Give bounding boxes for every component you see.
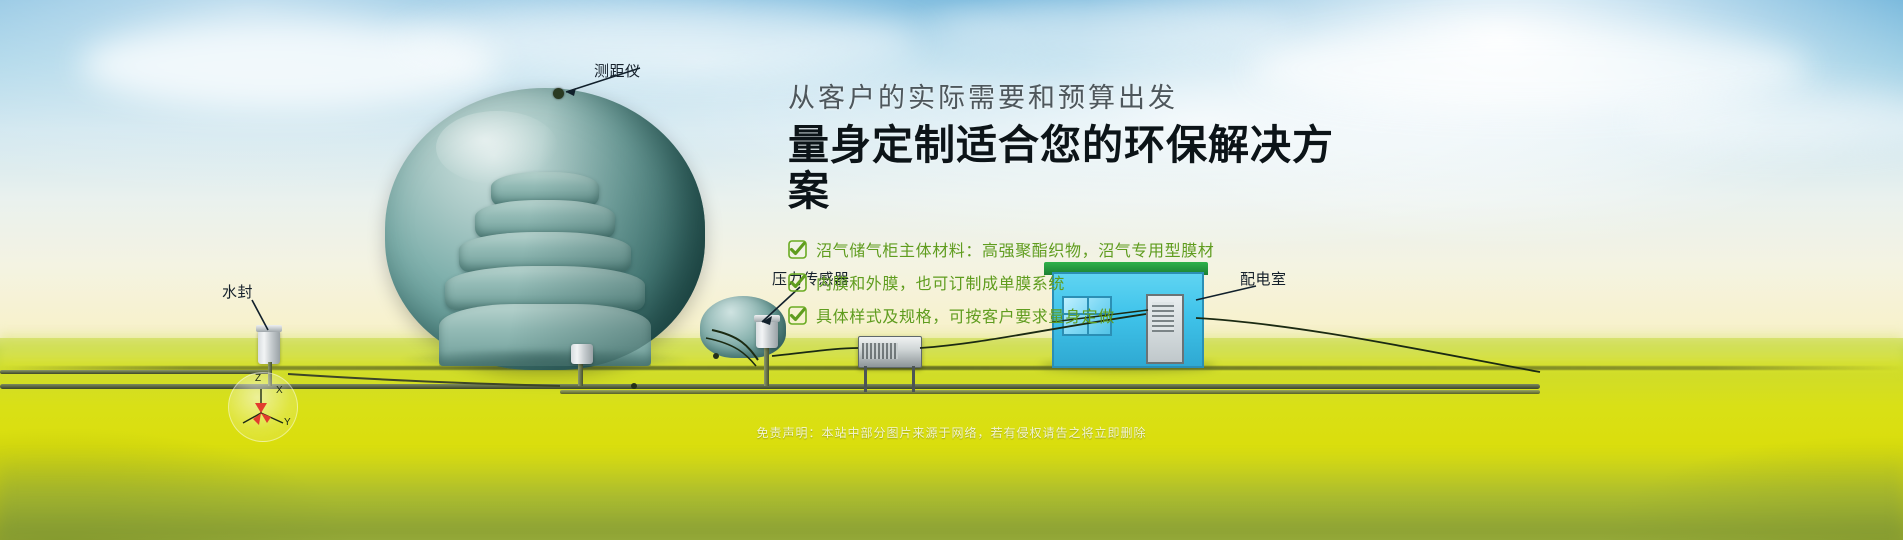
axis-label-x: X [276,385,283,396]
biogas-dome [385,88,705,370]
cloud [930,0,1290,56]
axis-label-z: Z [255,373,261,384]
rangefinder-device-icon [553,88,564,99]
banner-stage: 测距仪 水封 压力传感器 配电室 Z X Y 从客户的实际需要和预算出发 量身定… [0,0,1903,540]
list-item: 内膜和外膜，也可订制成单膜系统 [788,268,1348,296]
ground-foreground-blur [0,455,1903,540]
banner-headline: 量身定制适合您的环保解决方案 [788,123,1348,215]
list-item: 具体样式及规格，可按客户要求量身定做 [788,301,1348,329]
label-rangefinder: 测距仪 [594,60,641,81]
check-badge-icon [788,273,807,292]
label-water-seal: 水封 [222,281,253,302]
list-item-label: 沼气储气柜主体材料：高强聚酯织物，沼气专用型膜材 [816,237,1214,261]
water-seal-valve [258,330,280,364]
list-item-label: 具体样式及规格，可按客户要求量身定做 [816,303,1115,327]
dome-inner-membrane [439,166,651,366]
dome-base-shadow [401,350,689,372]
skid-leg [912,366,915,392]
valve-cap [256,325,282,332]
disclaimer-text: 免责声明：本站中部分图片来源于网络，若有侵权请告之将立即删除 [0,424,1903,441]
inline-valve [571,344,593,364]
check-badge-icon [788,306,807,325]
check-badge-icon [788,240,807,259]
banner-subtitle: 从客户的实际需要和预算出发 [788,82,1348,114]
list-item-label: 内膜和外膜，也可订制成单膜系统 [816,270,1065,294]
list-item: 沼气储气柜主体材料：高强聚酯织物，沼气专用型膜材 [788,235,1348,263]
blower-grill [862,343,898,359]
valve-cap [754,315,780,322]
feature-list: 沼气储气柜主体材料：高强聚酯织物，沼气专用型膜材 内膜和外膜，也可订制成单膜系统 [788,235,1348,329]
skid-leg [864,366,867,392]
marketing-copy: 从客户的实际需要和预算出发 量身定制适合您的环保解决方案 沼气储气柜主体材料：高… [788,82,1348,334]
cloud [400,6,920,76]
pipe-secondary [560,390,1540,394]
pressure-sensor-valve [756,320,778,348]
